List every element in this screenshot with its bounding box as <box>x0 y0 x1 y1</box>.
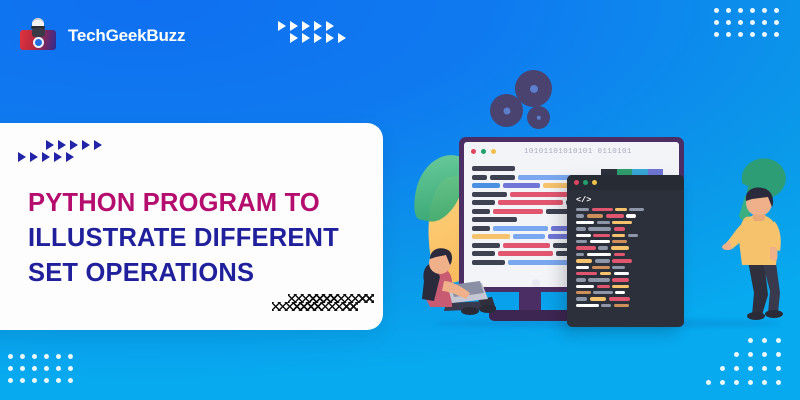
seated-woman-with-laptop <box>418 241 496 317</box>
window-dot <box>481 149 486 154</box>
code-token <box>472 209 490 214</box>
techgeekbuzz-laptop-mascot-logo-icon <box>18 18 58 54</box>
code-line <box>576 297 677 300</box>
play-triangle-icon-row-top-1 <box>278 21 338 31</box>
code-token <box>595 259 610 262</box>
code-token <box>472 192 507 197</box>
page-title-line-1: PYTHON PROGRAM TO <box>28 186 378 221</box>
code-token <box>588 278 609 281</box>
play-triangle-icon-row-top-2 <box>290 33 350 43</box>
code-token <box>609 297 630 300</box>
code-token <box>472 200 495 205</box>
code-token <box>472 234 510 239</box>
zigzag-line-icon-2 <box>272 302 358 311</box>
code-token <box>576 304 599 307</box>
code-token <box>493 209 543 214</box>
code-token <box>612 259 632 262</box>
play-triangle-icon <box>18 152 26 162</box>
code-line <box>576 278 677 281</box>
code-token <box>612 278 628 281</box>
code-token <box>498 251 553 256</box>
gear-icon-3 <box>530 109 547 126</box>
gear-icon-2 <box>493 97 520 124</box>
code-token <box>503 243 551 248</box>
page-title: PYTHON PROGRAM TO ILLUSTRATE DIFFERENT S… <box>28 186 378 291</box>
code-line <box>576 259 677 262</box>
code-token <box>600 272 611 275</box>
code-token <box>612 221 632 224</box>
developers-coding-illustration: 10101101010101 0110101 </> <box>415 55 800 355</box>
page-title-line-2: ILLUSTRATE DIFFERENT <box>28 221 378 256</box>
play-triangle-icon <box>70 140 78 150</box>
play-triangle-icon <box>314 33 322 43</box>
play-triangle-icon <box>302 21 310 31</box>
code-token <box>518 175 573 180</box>
code-token <box>490 175 515 180</box>
code-token <box>472 175 487 180</box>
play-triangle-icon <box>42 152 50 162</box>
code-token <box>513 234 546 239</box>
code-token <box>576 297 587 300</box>
code-token <box>576 253 584 256</box>
code-token <box>576 246 596 249</box>
window-dot <box>491 149 496 154</box>
play-triangle-icon <box>54 152 62 162</box>
code-token <box>592 266 610 269</box>
code-line <box>576 227 677 230</box>
code-token <box>612 285 628 288</box>
monitor-power-button <box>532 279 540 287</box>
monitor-base <box>489 310 573 321</box>
code-line <box>576 304 677 307</box>
dot-grid-icon-bottom-left <box>8 354 80 390</box>
code-window-code-block <box>567 208 684 314</box>
code-token <box>576 208 589 211</box>
code-token <box>493 226 548 231</box>
code-token <box>614 304 629 307</box>
code-token <box>472 183 500 188</box>
code-token <box>590 297 606 300</box>
code-token <box>626 214 636 217</box>
code-token <box>587 253 612 256</box>
monitor-window-dots <box>471 149 496 154</box>
play-triangle-icon <box>30 152 38 162</box>
code-token <box>611 246 629 249</box>
code-token <box>614 272 629 275</box>
play-triangle-icon <box>66 152 74 162</box>
code-window-titlebar <box>567 175 684 190</box>
play-triangle-icon-row-card-1 <box>46 140 106 150</box>
code-token <box>606 214 624 217</box>
code-token <box>508 260 571 265</box>
code-editor-window-icon: </> <box>567 175 684 327</box>
code-token <box>498 200 563 205</box>
code-tag-icon: </> <box>576 195 684 205</box>
code-token <box>592 208 613 211</box>
code-token <box>612 266 625 269</box>
standing-man-pointing <box>722 183 794 321</box>
code-token <box>576 221 594 224</box>
code-line <box>576 221 677 224</box>
window-dot <box>583 180 588 185</box>
play-triangle-icon <box>94 140 102 150</box>
code-token <box>612 240 627 243</box>
code-token <box>510 192 568 197</box>
window-dot <box>592 180 597 185</box>
code-token <box>587 214 603 217</box>
code-token <box>614 227 625 230</box>
code-token <box>615 208 626 211</box>
code-token <box>576 214 584 217</box>
banner-canvas: TechGeekBuzz PYTHON PROGRAM TO ILLUSTRAT… <box>0 0 800 400</box>
code-token <box>576 234 591 237</box>
gear-icon-1 <box>518 73 549 104</box>
code-token <box>503 183 541 188</box>
play-triangle-icon <box>290 21 298 31</box>
code-token <box>597 221 610 224</box>
code-line <box>576 214 677 217</box>
code-token <box>576 240 587 243</box>
play-triangle-icon <box>314 21 322 31</box>
play-triangle-icon <box>278 21 286 31</box>
code-token <box>590 240 610 243</box>
code-line <box>576 240 677 243</box>
window-dot <box>471 149 476 154</box>
binary-text: 10101101010101 0110101 <box>524 148 632 156</box>
play-triangle-icon <box>290 33 298 43</box>
play-triangle-icon <box>302 33 310 43</box>
code-line <box>576 285 677 288</box>
code-token <box>588 227 611 230</box>
code-token <box>576 285 594 288</box>
code-token <box>472 226 490 231</box>
code-line <box>576 246 677 249</box>
play-triangle-icon <box>82 140 90 150</box>
play-triangle-icon <box>326 21 334 31</box>
code-token <box>472 166 515 171</box>
code-line <box>576 291 677 294</box>
play-triangle-icon <box>58 140 66 150</box>
code-line <box>576 253 677 256</box>
code-token <box>593 291 613 294</box>
code-token <box>576 259 592 262</box>
window-dot <box>574 180 579 185</box>
code-token <box>576 266 589 269</box>
code-token <box>612 234 625 237</box>
page-title-line-3: SET OPERATIONS <box>28 256 378 291</box>
code-token <box>472 217 517 222</box>
code-token <box>628 234 638 237</box>
code-token <box>576 291 591 294</box>
code-token <box>601 304 611 307</box>
play-triangle-icon <box>338 33 346 43</box>
code-token <box>598 246 608 249</box>
code-line <box>576 234 677 237</box>
dot-grid-icon-top-right <box>714 8 786 44</box>
play-triangle-icon-row-card-2 <box>18 152 78 162</box>
brand-name: TechGeekBuzz <box>68 26 185 46</box>
code-line <box>576 266 677 269</box>
code-token <box>597 285 610 288</box>
code-token <box>576 272 597 275</box>
play-triangle-icon <box>46 140 54 150</box>
play-triangle-icon <box>326 33 334 43</box>
code-token <box>593 234 609 237</box>
code-token <box>576 278 586 281</box>
code-token <box>629 208 644 211</box>
code-token <box>615 291 625 294</box>
code-line <box>576 272 677 275</box>
code-line <box>576 208 677 211</box>
code-token <box>614 253 625 256</box>
brand-logo[interactable]: TechGeekBuzz <box>18 18 185 54</box>
code-token <box>576 227 586 230</box>
